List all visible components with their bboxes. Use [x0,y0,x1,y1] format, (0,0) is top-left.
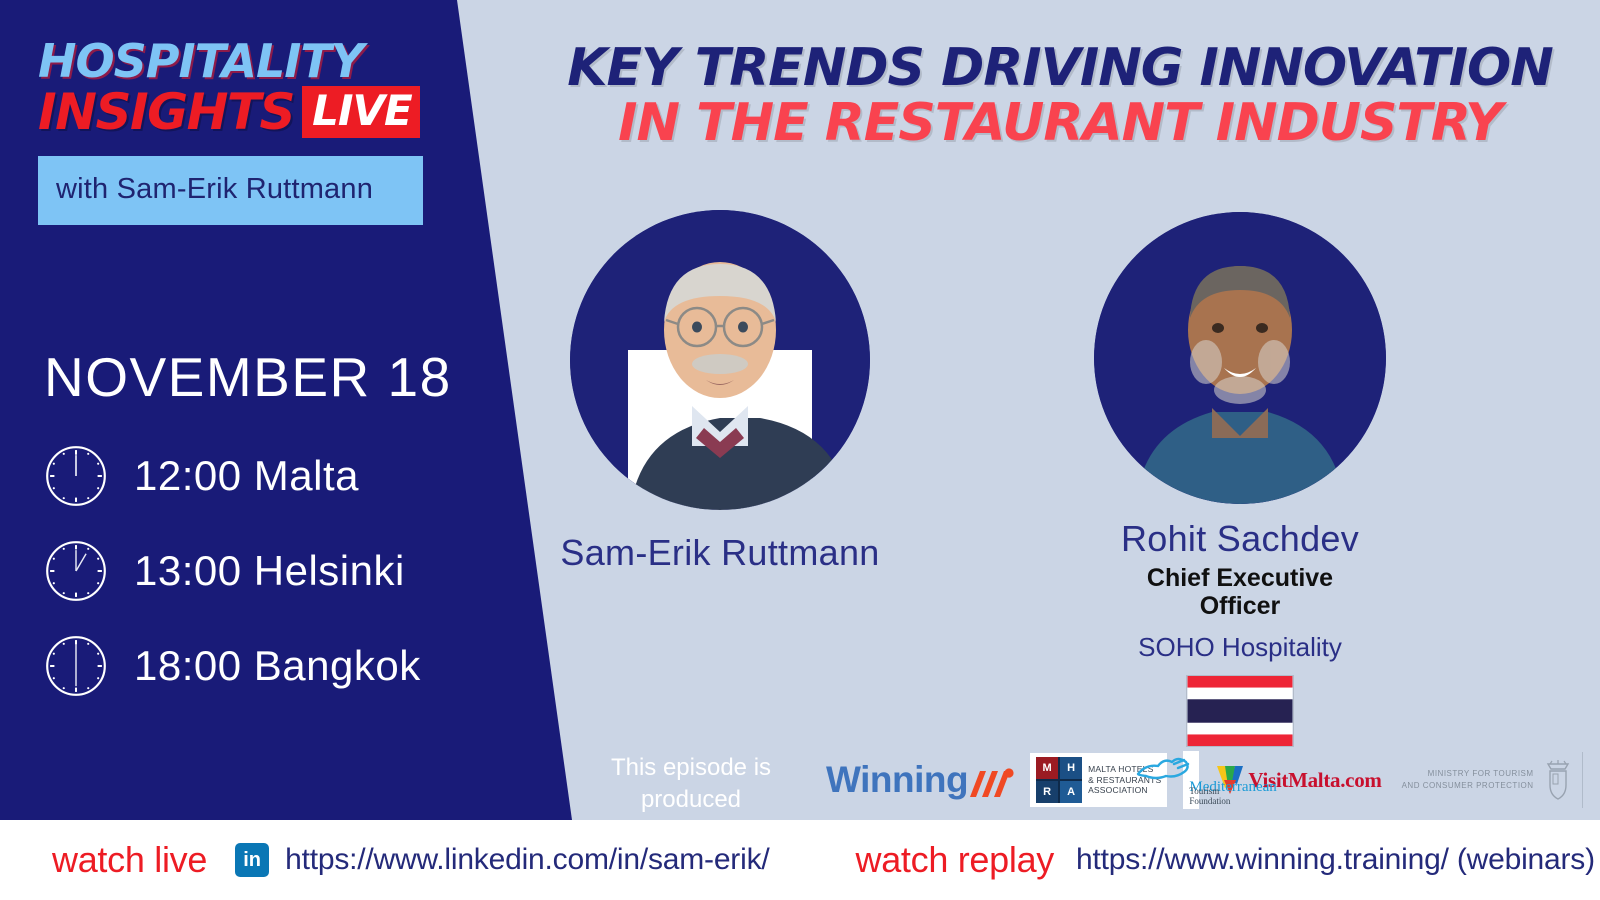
mhra-line-3: ASSOCIATION [1088,785,1161,796]
footer-bar: watch live in https://www.linkedin.com/i… [0,820,1600,900]
title-line-1: KEY TRENDS DRIVING INNOVATION [560,42,1560,95]
watch-live-label: watch live [52,839,207,881]
clock-icon [40,440,112,512]
linkedin-icon[interactable]: in [235,843,269,877]
watch-live-group: watch live in https://www.linkedin.com/i… [52,839,770,881]
replay-url[interactable]: https://www.winning.training/ (webinars) [1076,843,1595,877]
mtf-line-2: Tourism Foundation [1189,786,1230,806]
mhra-mark-icon: M H R A [1036,757,1082,803]
speaker-role: Chief Executive Officer [1040,564,1440,620]
timezone-label: 12:00 Malta [134,452,359,500]
clock-icon [40,630,112,702]
title-line-2: IN THE RESTAURANT INDUSTRY [560,97,1560,150]
winning-mark-icon [968,767,1014,801]
portrait-photo [1094,212,1386,504]
brand-lockup: HOSPITALITY INSIGHTS LIVE with Sam-Erik … [38,38,438,225]
speaker-role-line-1: Chief Executive [1147,564,1333,592]
logo-mediterranean-tourism-foundation: Mediterranean Tourism Foundation [1183,751,1199,809]
mhra-letter-a: A [1060,781,1082,803]
portrait-photo [570,210,870,510]
speaker-name: Sam-Erik Ruttmann [520,532,920,574]
logo-ministry-tourism: MINISTRY FOR TOURISM AND CONSUMER PROTEC… [1402,752,1583,808]
timezone-row: 12:00 Malta [40,440,421,512]
mhra-letter-h: H [1060,757,1082,779]
logo-winning: Winning [826,759,1014,801]
timezone-label: 13:00 Helsinki [134,547,405,595]
speaker-name: Rohit Sachdev [1040,518,1440,560]
speaker-org: SOHO Hospitality [1040,632,1440,663]
brand-insights-text: INSIGHTS [38,87,294,137]
thailand-flag-icon [1186,675,1294,747]
mediterranean-sea-icon [1134,756,1194,786]
ministry-line-1: MINISTRY FOR TOURISM [1402,768,1534,780]
linkedin-url[interactable]: https://www.linkedin.com/in/sam-erik/ [285,843,769,877]
poster-canvas: HOSPITALITY INSIGHTS LIVE with Sam-Erik … [0,0,1600,900]
timezone-label: 18:00 Bangkok [134,642,421,690]
mhra-letter-r: R [1036,781,1058,803]
partnership-line-1: This episode is produced [566,752,816,817]
brand-second-line: INSIGHTS LIVE [38,86,438,138]
winning-wordmark: Winning [826,759,968,801]
brand-hospitality-text: HOSPITALITY [38,38,438,84]
speaker-card-sam-erik: Sam-Erik Ruttmann [520,210,920,574]
timezone-row: 13:00 Helsinki [40,535,421,607]
timezone-row: 18:00 Bangkok [40,630,421,702]
watch-replay-group: watch replay https://www.winning.trainin… [856,839,1595,881]
brand-host-banner: with Sam-Erik Ruttmann [38,156,423,225]
brand-live-badge: LIVE [302,86,420,138]
mhra-letter-m: M [1036,757,1058,779]
ministry-wordmark: MINISTRY FOR TOURISM AND CONSUMER PROTEC… [1402,768,1534,791]
ministry-divider [1582,752,1583,808]
watch-replay-label: watch replay [856,839,1055,881]
malta-coat-of-arms-icon [1544,758,1572,802]
speaker-card-rohit: Rohit Sachdev Chief Executive Officer SO… [1040,212,1440,747]
timezone-list: 12:00 Malta 13:00 Helsinki [40,440,421,725]
clock-icon [40,535,112,607]
event-date: NOVEMBER 18 [44,345,452,409]
ministry-line-2: AND CONSUMER PROTECTION [1402,780,1534,792]
page-title: KEY TRENDS DRIVING INNOVATION IN THE RES… [560,42,1560,150]
speaker-role-line-2: Officer [1200,592,1281,620]
avatar [570,210,870,510]
partner-logo-strip: Winning M H R A MALTA HOTELS & RESTAURAN… [826,740,1566,820]
avatar [1094,212,1386,504]
